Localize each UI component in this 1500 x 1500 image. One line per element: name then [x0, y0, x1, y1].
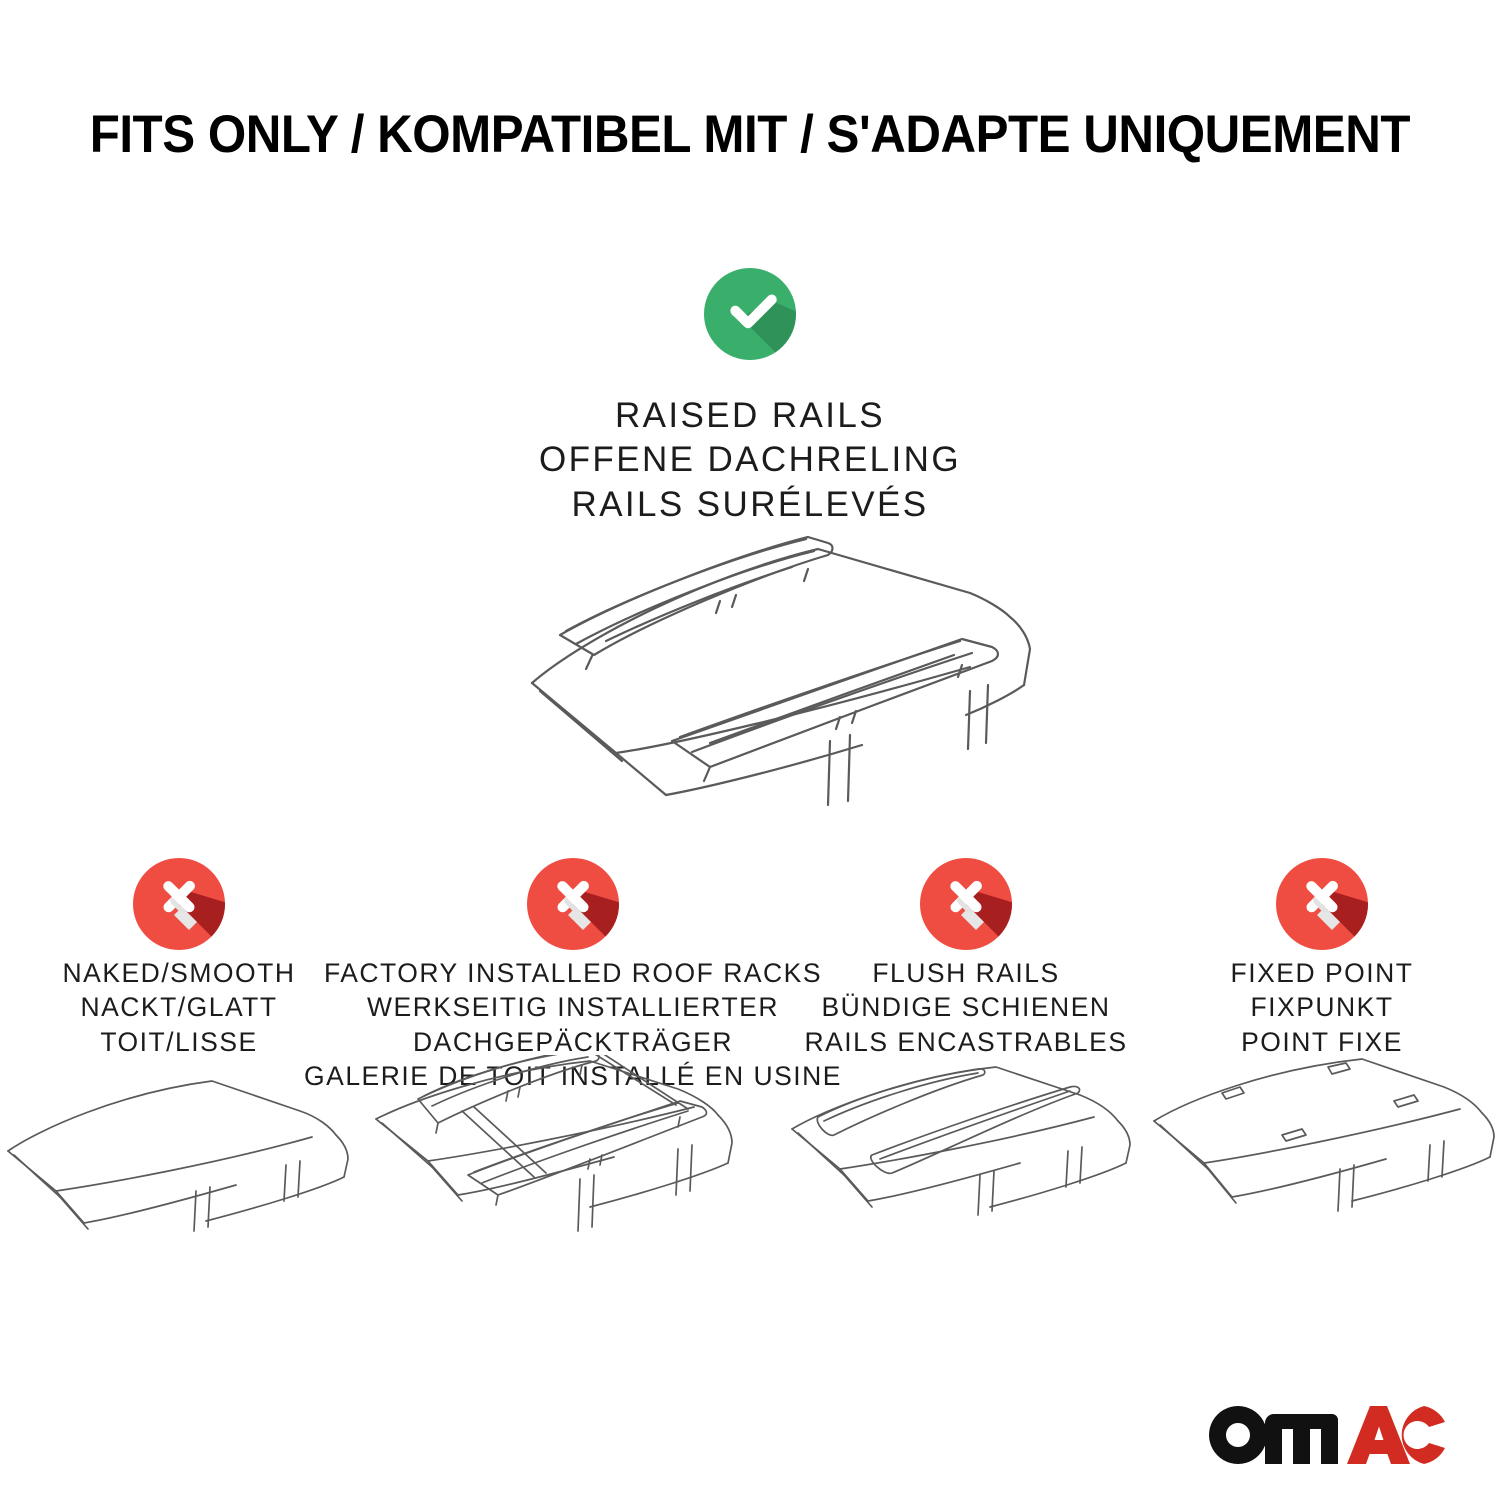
incompatible-illustrations-row — [0, 1055, 1500, 1300]
label-line-en: NAKED/SMOOTH — [63, 956, 296, 990]
label-line-de-1: WERKSEITIG INSTALLIERTER — [304, 990, 842, 1024]
label-line-en: FACTORY INSTALLED ROOF RACKS — [304, 956, 842, 990]
label-line-en: FLUSH RAILS — [804, 956, 1127, 990]
car-roof-fixed-point-illustration — [1144, 1055, 1500, 1300]
incompatible-section-fixed-point: FIXED POINT FIXPUNKT POINT FIXE — [1144, 852, 1500, 1062]
car-roof-bare-illustration — [0, 1055, 358, 1300]
compatible-label-line-en: RAISED RAILS — [0, 394, 1500, 438]
label-line-de: FIXPUNKT — [1231, 990, 1414, 1024]
omac-logo: OMAC — [1206, 1402, 1446, 1464]
compatible-section: RAISED RAILS OFFENE DACHRELING RAILS SUR… — [0, 262, 1500, 527]
cross-circle-icon — [521, 852, 625, 956]
cross-circle-icon — [127, 852, 231, 956]
incompatible-label-fixed-point: FIXED POINT FIXPUNKT POINT FIXE — [1231, 956, 1414, 1065]
compatible-label-line-de: OFFENE DACHRELING — [0, 438, 1500, 482]
label-line-de: NACKT/GLATT — [63, 990, 296, 1024]
cross-circle-icon — [1270, 852, 1374, 956]
page-title: FITS ONLY / KOMPATIBEL MIT / S'ADAPTE UN… — [90, 104, 1410, 165]
label-line-de: BÜNDIGE SCHIENEN — [804, 990, 1127, 1024]
car-roof-flush-rails-illustration — [788, 1055, 1144, 1300]
incompatible-sections: NAKED/SMOOTH NACKT/GLATT TOIT/LISSE — [0, 852, 1500, 1062]
car-roof-factory-rack-illustration — [358, 1055, 788, 1300]
incompatible-section-flush-rails: FLUSH RAILS BÜNDIGE SCHIENEN RAILS ENCAS… — [788, 852, 1144, 1062]
page-header: FITS ONLY / KOMPATIBEL MIT / S'ADAPTE UN… — [0, 104, 1500, 165]
incompatible-section-factory-rack: FACTORY INSTALLED ROOF RACKS WERKSEITIG … — [358, 852, 788, 1062]
incompatible-label-naked-smooth: NAKED/SMOOTH NACKT/GLATT TOIT/LISSE — [63, 956, 296, 1065]
check-circle-icon — [698, 262, 802, 366]
incompatible-label-flush-rails: FLUSH RAILS BÜNDIGE SCHIENEN RAILS ENCAS… — [804, 956, 1127, 1065]
car-roof-raised-rails-illustration — [410, 505, 1090, 825]
label-line-en: FIXED POINT — [1231, 956, 1414, 990]
cross-circle-icon — [914, 852, 1018, 956]
